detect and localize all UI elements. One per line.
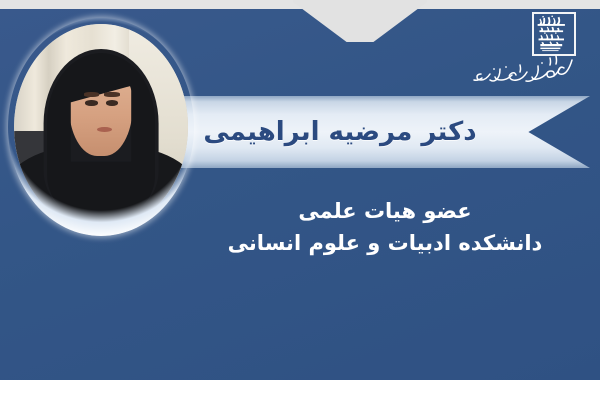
name-ribbon: دکتر مرضیه ابراهیمی [150,96,590,168]
avatar [8,18,194,236]
faculty-department-label: دانشکده ادبیات و علوم انسانی [190,228,580,260]
logo-square-frame [532,12,576,56]
logo-cursive-text-icon [472,52,578,88]
page-title: دکتر مرضیه ابراهیمی [203,117,476,147]
avatar-ring [8,18,194,236]
faculty-profile-card: دکتر مرضیه ابراهیمی عضو هیات علمی دانشکد… [0,0,600,400]
faculty-role-label: عضو هیات علمی [190,196,580,228]
subtitle-block: عضو هیات علمی دانشکده ادبیات و علوم انسا… [190,196,580,259]
logo-calligraphy-icon [534,14,574,54]
university-logo [472,10,582,92]
